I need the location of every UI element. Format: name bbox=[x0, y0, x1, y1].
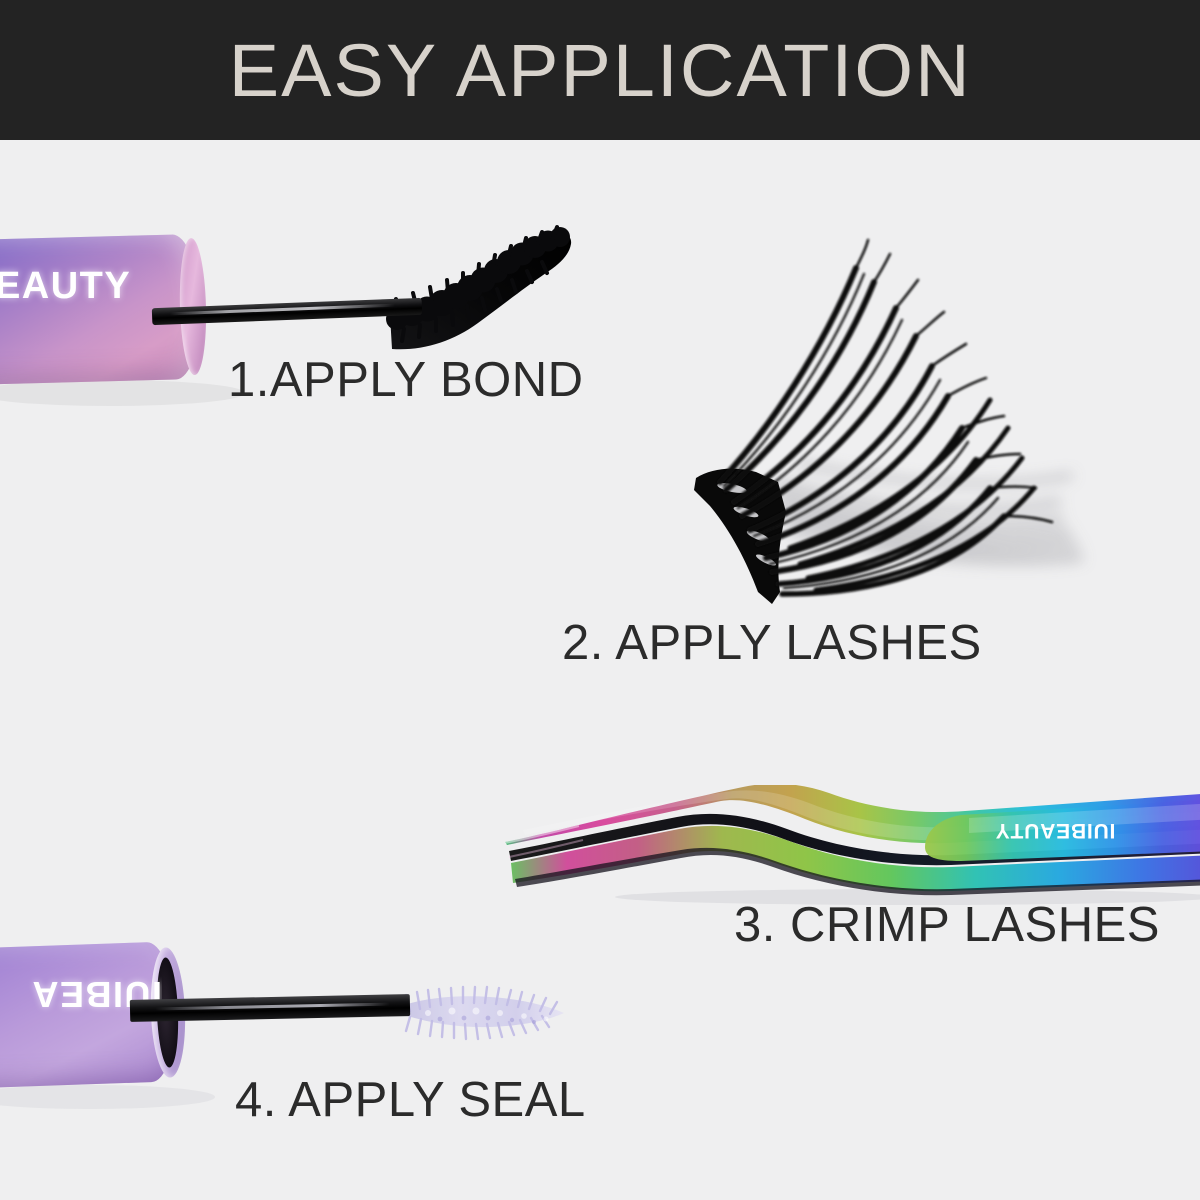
step-3-caption: 3. CRIMP LASHES bbox=[734, 897, 1160, 953]
infographic-stage: BEAUTY 1.APPLY BOND bbox=[0, 140, 1200, 1200]
tweezer-brand-label: IUIBEAUTY bbox=[995, 818, 1115, 842]
step-2-lash-product-image bbox=[660, 220, 1200, 620]
false-lash-cluster-icon bbox=[660, 220, 1200, 620]
bond-tube-brand-label: BEAUTY bbox=[0, 265, 178, 308]
step-1-bond-product-image: BEAUTY bbox=[0, 215, 640, 475]
step-2-caption: 2. APPLY LASHES bbox=[562, 615, 982, 671]
step-3-tweezer-product-image bbox=[495, 785, 1200, 915]
step-1-caption: 1.APPLY BOND bbox=[228, 352, 584, 408]
iridescent-tweezers-icon bbox=[495, 785, 1200, 915]
step-4-caption: 4. APPLY SEAL bbox=[235, 1072, 586, 1128]
page-title: EASY APPLICATION bbox=[228, 28, 971, 113]
header-banner: EASY APPLICATION bbox=[0, 0, 1200, 140]
